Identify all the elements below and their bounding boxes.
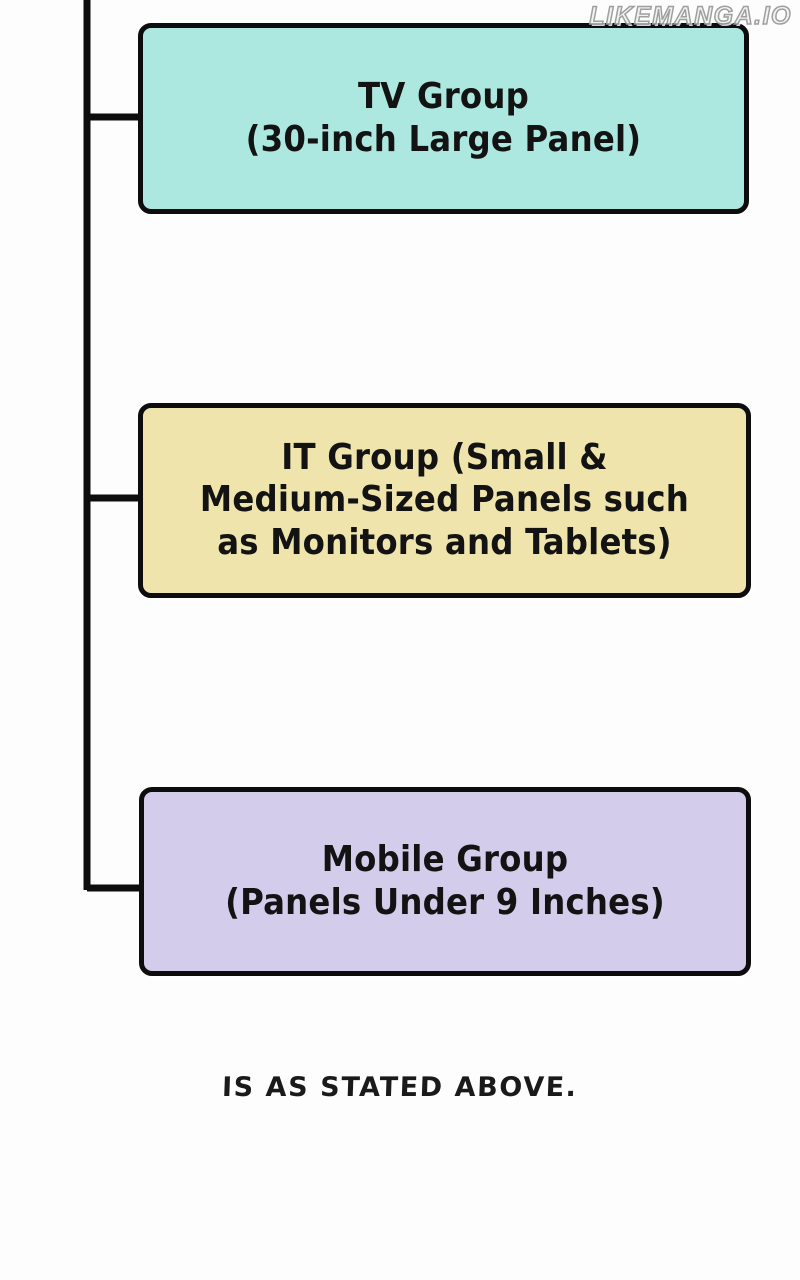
node-it-group-label-line-1: IT Group (Small & xyxy=(200,437,689,479)
node-tv-group-label-line-2: (30-inch Large Panel) xyxy=(246,119,642,161)
node-mobile-group-label: Mobile Group (Panels Under 9 Inches) xyxy=(225,839,665,924)
node-mobile-group-label-line-2: (Panels Under 9 Inches) xyxy=(225,882,665,924)
caption: IS AS STATED ABOVE. xyxy=(0,1072,800,1103)
node-it-group-label-line-2: Medium-Sized Panels such xyxy=(200,479,689,521)
caption-text: IS AS STATED ABOVE. xyxy=(222,1072,579,1103)
node-mobile-group-label-line-1: Mobile Group xyxy=(225,839,665,881)
node-it-group: IT Group (Small & Medium-Sized Panels su… xyxy=(138,403,751,598)
node-tv-group-label-line-1: TV Group xyxy=(246,76,642,118)
node-it-group-label-line-3: as Monitors and Tablets) xyxy=(200,522,689,564)
comic-panel: LIKEMANGA.IO TV Group (30-inch Large Pan… xyxy=(0,0,800,1280)
node-tv-group: TV Group (30-inch Large Panel) xyxy=(138,23,749,214)
node-tv-group-label: TV Group (30-inch Large Panel) xyxy=(246,76,642,161)
node-it-group-label: IT Group (Small & Medium-Sized Panels su… xyxy=(200,437,689,564)
node-mobile-group: Mobile Group (Panels Under 9 Inches) xyxy=(139,787,751,976)
